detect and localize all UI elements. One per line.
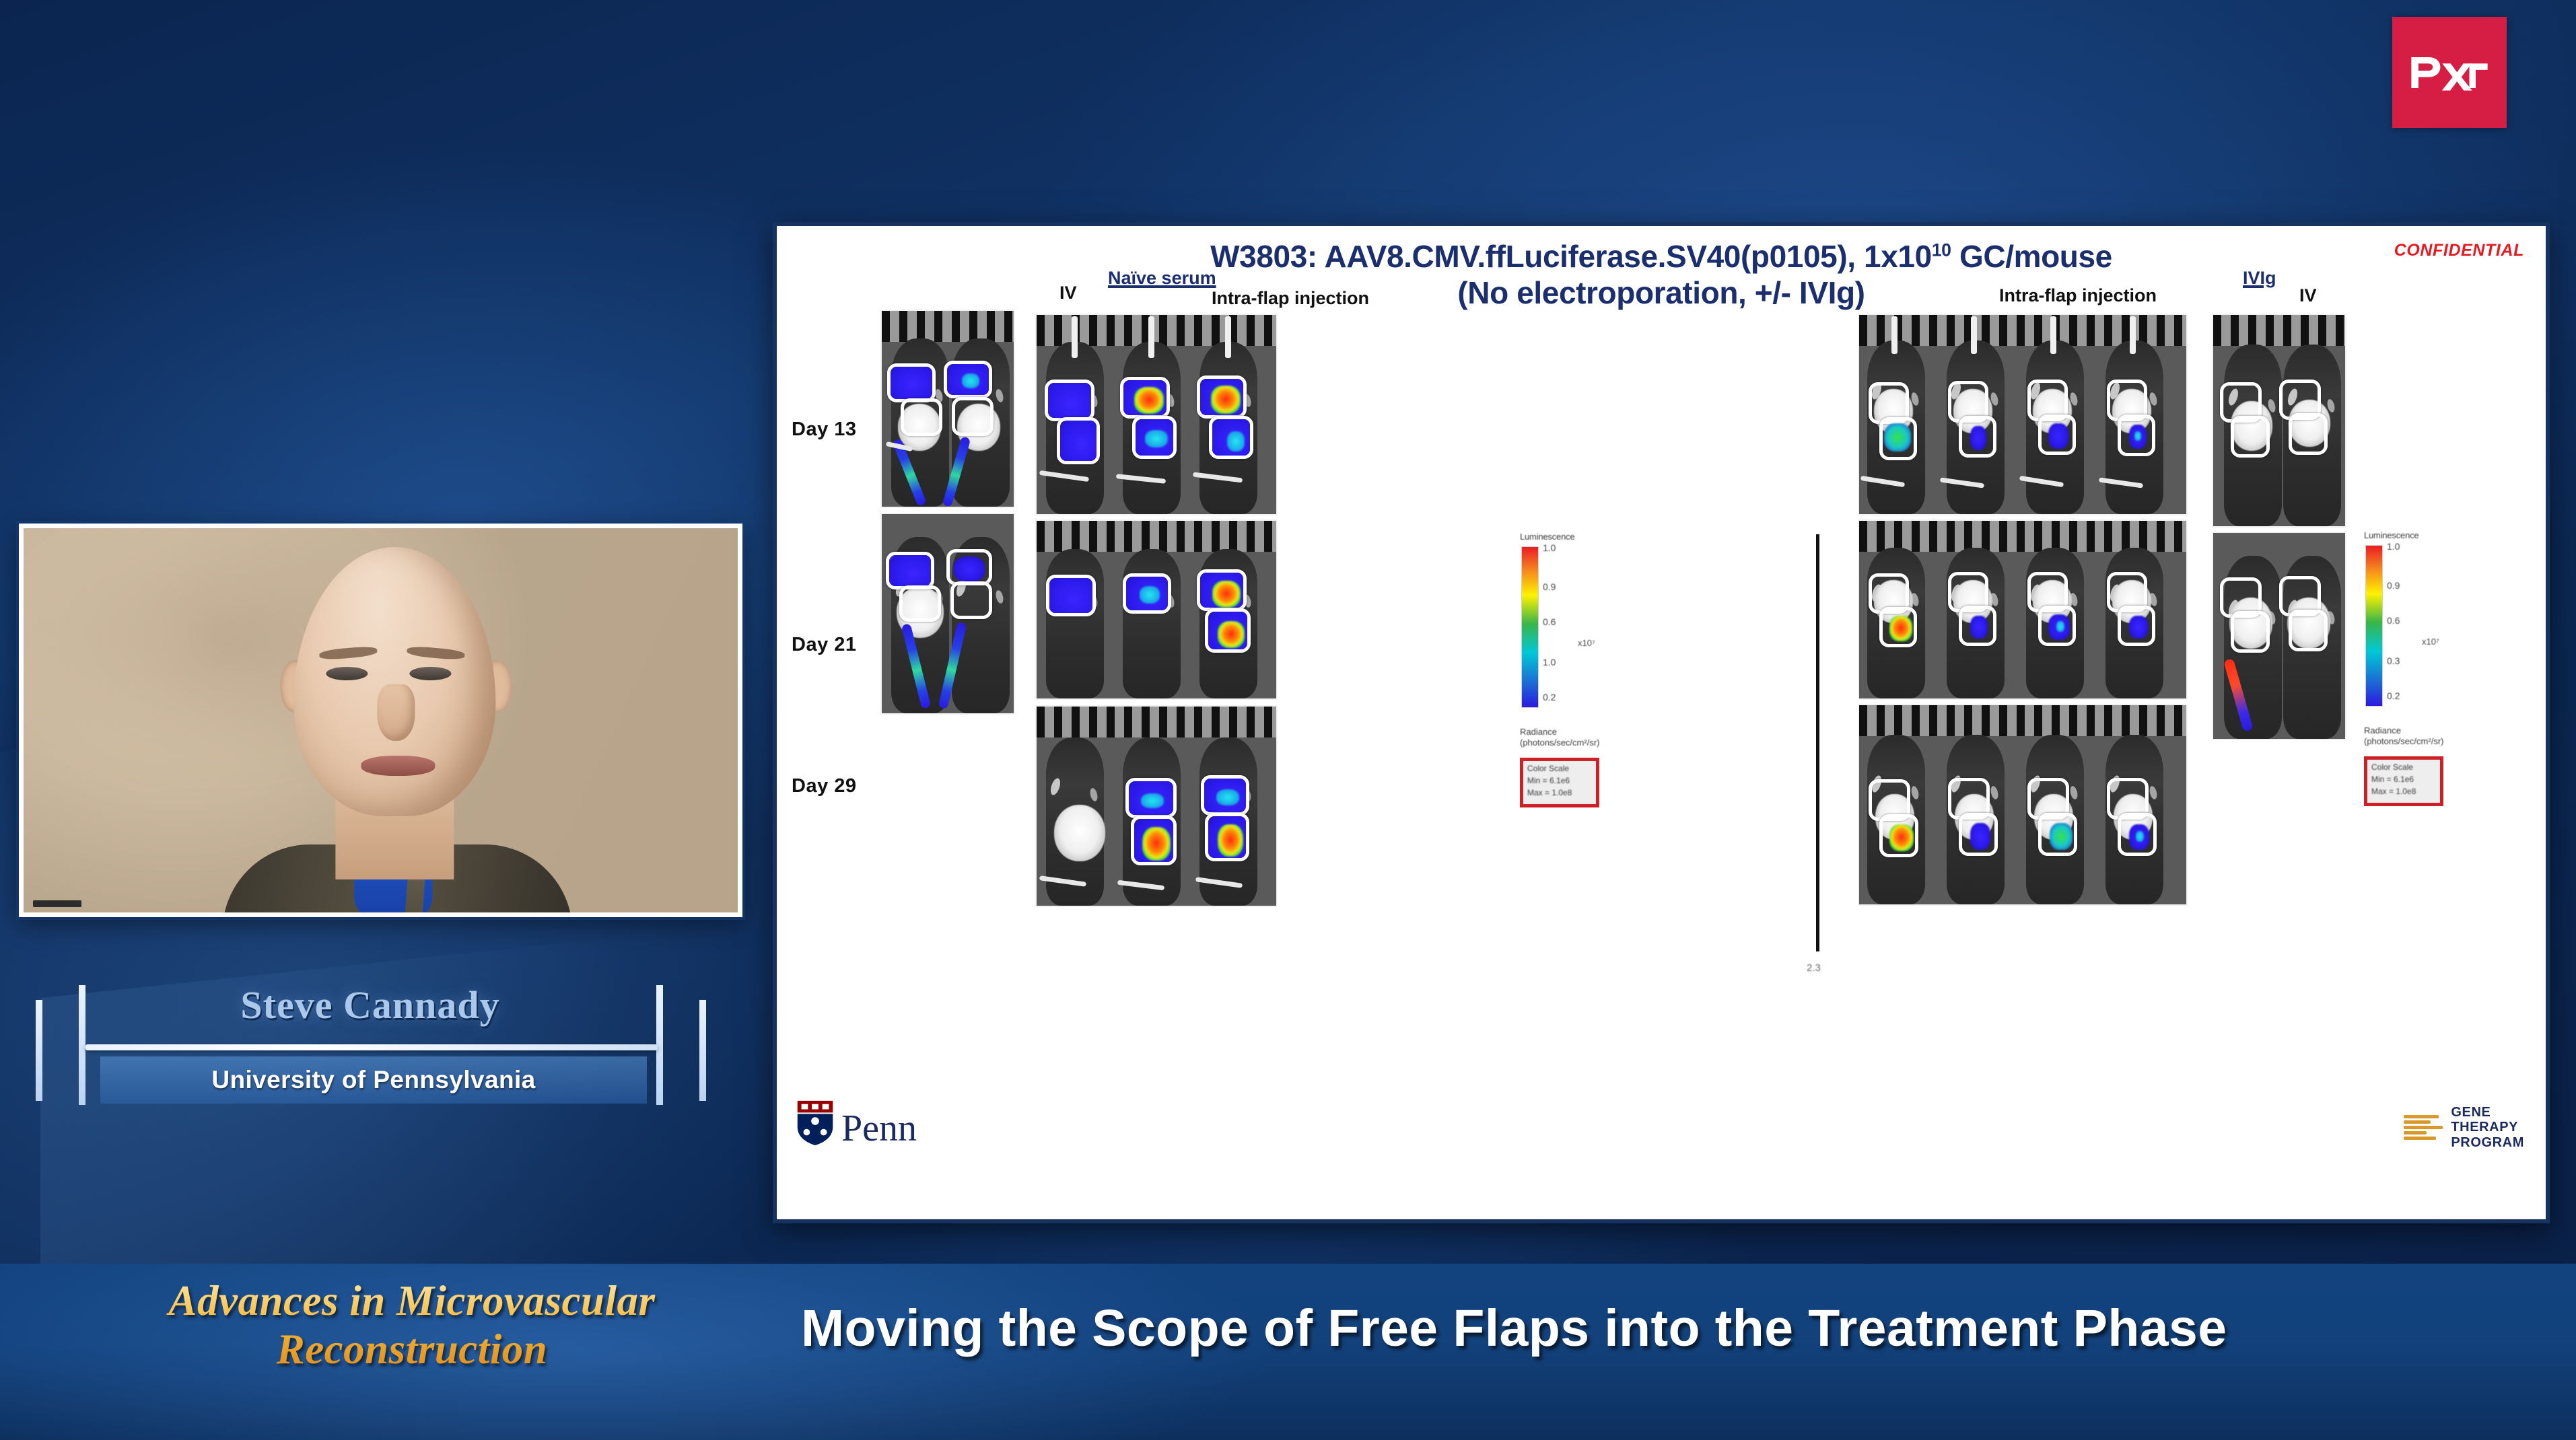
legend-tick: 1.0 [1543, 542, 1556, 553]
roi-box [944, 361, 992, 398]
legend-tick: 0.2 [1543, 692, 1556, 703]
imaging-panel-intraflap-ivig-day29 [1858, 704, 2188, 906]
roi-box [946, 549, 992, 585]
roi-box [899, 585, 941, 622]
row-label-day-13: Day 13 [792, 419, 857, 441]
speaker-eye-right [409, 667, 451, 680]
imaging-panel-intraflap-ivig-day13 [1858, 314, 2188, 515]
gtp-line-2: THERAPY [2451, 1120, 2524, 1135]
legend-scale-min: Min = 6.1e6 [1527, 776, 1596, 785]
speaker-organization: University of Pennsylvania [100, 1056, 647, 1104]
broadcast-stage: Steve Cannady University of Pennsylvania… [0, 0, 2576, 1440]
legend-title: Luminescence [1520, 532, 1648, 542]
anesthesia-probe [2050, 316, 2056, 354]
roi-box [1209, 416, 1253, 459]
pxr-wordmark-icon [2410, 52, 2489, 94]
roi-box [886, 552, 934, 589]
row-label-day-21: Day 21 [792, 634, 857, 656]
gtp-wordmark: GENE THERAPY PROGRAM [2451, 1105, 2524, 1150]
event-title: Advances in Microvascular Reconstruction [35, 1277, 789, 1374]
legend-scale-min: Min = 6.1e6 [2371, 775, 2440, 784]
slide-title-line1: W3803: AAV8.CMV.ffLuciferase.SV40(p0105)… [1210, 239, 1932, 274]
roi-box [1132, 416, 1177, 459]
legend-tick: 0.9 [2387, 580, 2400, 591]
legend-tick: 0.6 [1543, 616, 1556, 627]
roi-box [1131, 816, 1177, 865]
gtp-line-1: GENE [2451, 1105, 2524, 1120]
penn-wordmark: Penn [841, 1112, 917, 1145]
panel-divider [1816, 534, 1819, 951]
imaging-panel-iv-ivig-day21 [2212, 532, 2346, 740]
divider-label: 2.3 [1807, 962, 1821, 974]
roi-box [2231, 611, 2270, 653]
legend-tick: 0.9 [1543, 581, 1556, 592]
luminescence-legend-right: Luminescence 1.0 0.9 0.6 x10⁷ 0.3 0.2 Ra… [2364, 530, 2492, 540]
anesthesia-probe [2130, 316, 2136, 354]
gtp-line-3: PROGRAM [2451, 1135, 2524, 1150]
roi-box [2038, 415, 2076, 455]
legend-scale-max: Max = 1.0e8 [2371, 787, 2440, 796]
roi-box [1120, 377, 1170, 419]
anesthesia-probe [1225, 316, 1231, 358]
column-header-ivig: IVIg [2243, 268, 2276, 289]
roi-box [2038, 606, 2076, 646]
roi-box [2118, 813, 2157, 856]
column-header-intra-flap-left: Intra-flap injection [1212, 288, 1369, 309]
gene-therapy-program-logo: GENE THERAPY PROGRAM [2404, 1105, 2524, 1150]
legend-caption: Radiance(photons/sec/cm²/sr) [1520, 727, 1599, 749]
pxr-logo[interactable] [2392, 17, 2507, 128]
imaging-panel-intraflap-naive-day29 [1035, 705, 1278, 907]
legend-tick: 1.0 [2387, 541, 2400, 552]
legend-colorbar [1521, 546, 1539, 708]
legend-color-scale-box: Color Scale Min = 6.1e6 Max = 1.0e8 [2364, 756, 2443, 806]
imaging-panel-intraflap-naive-day21 [1035, 519, 1278, 700]
roi-box [1197, 569, 1247, 611]
luminescence-legend-left: Luminescence 1.0 0.9 0.6 x10⁷ 1.0 0.2 Ra… [1520, 532, 1648, 542]
presentation-slide[interactable]: W3803: AAV8.CMV.ffLuciferase.SV40(p0105)… [773, 222, 2550, 1223]
roi-box [950, 581, 992, 619]
legend-colorbar [2365, 545, 2383, 707]
roi-box [1879, 607, 1917, 647]
anesthesia-probe [1891, 316, 1898, 354]
cage-bars [1859, 705, 2186, 736]
roi-box [2038, 813, 2077, 856]
slide-subtitle: (No electroporation, +/- IVIg) [781, 275, 2542, 311]
roi-box [1205, 813, 1249, 861]
penn-shield-icon [794, 1098, 836, 1145]
roi-box [1057, 417, 1100, 464]
roi-box [1879, 814, 1918, 857]
roi-box [2118, 606, 2155, 646]
speaker-video-frame [24, 528, 738, 912]
penn-logo: Penn [794, 1098, 917, 1145]
legend-tick: 0.6 [2387, 615, 2400, 626]
gtp-mark-icon [2404, 1115, 2443, 1140]
mouse-image [1046, 549, 1104, 698]
slide-title-line1-tail: GC/mouse [1951, 239, 2112, 274]
legend-scale-max: Max = 1.0e8 [1527, 788, 1596, 797]
column-header-naive-serum: Naïve serum [1108, 268, 1216, 289]
column-header-iv-right: IV [2299, 285, 2317, 306]
speaker-portrait [207, 528, 584, 917]
roi-box [1201, 775, 1249, 816]
roi-box [1205, 608, 1251, 653]
roi-box [1959, 606, 1996, 646]
speaker-name: Steve Cannady [30, 982, 710, 1028]
roi-box [1125, 778, 1177, 818]
mouse-image [1123, 549, 1181, 698]
legend-title: Luminescence [2364, 530, 2492, 540]
imaging-panel-iv-naive-day13 [880, 310, 1015, 508]
confidential-stamp: CONFIDENTIAL [2394, 241, 2524, 260]
slide-title: W3803: AAV8.CMV.ffLuciferase.SV40(p0105)… [781, 238, 2542, 312]
legend-unit: x10⁷ [2422, 637, 2439, 647]
bright-region [1054, 805, 1105, 861]
roi-box [1879, 417, 1917, 460]
anesthesia-probe [1971, 316, 1977, 354]
legend-tick: 0.3 [2387, 655, 2400, 666]
imaging-panel-intraflap-naive-day13 [1035, 314, 1278, 515]
anesthesia-probe [1148, 316, 1154, 358]
legend-scale-title: Color Scale [1527, 764, 1596, 773]
speaker-nose [377, 684, 415, 741]
slide-title-exponent: 10 [1932, 240, 1951, 260]
roi-box [887, 363, 936, 402]
roi-box [2289, 610, 2328, 651]
roi-box [1123, 573, 1171, 614]
lower-third-nameplate: Steve Cannady University of Pennsylvania [30, 976, 710, 1120]
session-title: Moving the Scope of Free Flaps into the … [801, 1299, 2551, 1359]
column-header-intra-flap-right: Intra-flap injection [1999, 285, 2157, 306]
legend-unit: x10⁷ [1578, 638, 1595, 648]
speaker-mouth [361, 756, 435, 776]
roi-box [2118, 415, 2155, 456]
cage-bars [1037, 521, 1276, 552]
roi-box [1046, 575, 1096, 616]
legend-caption: Radiance(photons/sec/cm²/sr) [2364, 725, 2443, 748]
anesthesia-probe [1072, 316, 1078, 358]
roi-box [1197, 375, 1247, 419]
roi-box [2289, 413, 2328, 455]
event-title-line-1: Advances in Microvascular [168, 1277, 655, 1324]
legend-color-scale-box: Color Scale Min = 6.1e6 Max = 1.0e8 [1520, 758, 1599, 807]
legend-scale-title: Color Scale [2371, 762, 2440, 772]
imaging-panel-intraflap-ivig-day21 [1858, 519, 2188, 700]
row-label-day-29: Day 29 [792, 775, 857, 797]
event-title-line-2: Reconstruction [277, 1326, 548, 1373]
imaging-panel-iv-naive-day21 [880, 513, 1015, 715]
cage-bars [1037, 707, 1276, 737]
roi-box [901, 398, 942, 436]
roi-box [1045, 380, 1094, 421]
nameplate-divider [85, 1044, 658, 1050]
cage-bars [2213, 315, 2345, 346]
speaker-head [293, 547, 495, 816]
roi-box [952, 397, 994, 436]
speaker-eye-left [326, 667, 368, 680]
roi-box [1959, 813, 1998, 856]
roi-box [2231, 416, 2270, 458]
video-status-bar [33, 900, 81, 907]
speaker-video-tile[interactable] [19, 524, 742, 917]
imaging-panel-iv-ivig-day13 [2212, 314, 2346, 528]
roi-box [1959, 416, 1996, 458]
legend-tick: 0.2 [2387, 690, 2400, 701]
slide-canvas: W3803: AAV8.CMV.ffLuciferase.SV40(p0105)… [781, 230, 2542, 1215]
column-header-iv-left: IV [1059, 283, 1077, 303]
legend-tick: 1.0 [1543, 657, 1556, 668]
cage-bars [882, 311, 1014, 342]
bottom-banner: Advances in Microvascular Reconstruction… [0, 1264, 2576, 1440]
